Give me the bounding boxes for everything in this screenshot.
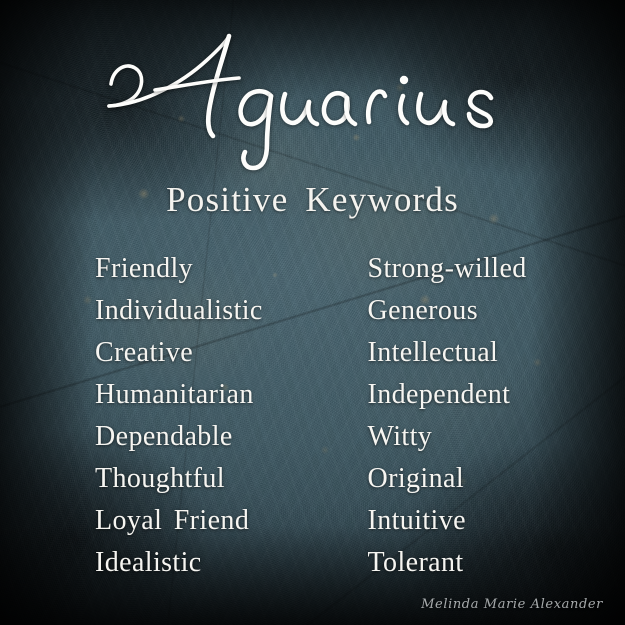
keyword-item: Generous	[368, 290, 625, 332]
keyword-item: Humanitarian	[95, 374, 313, 416]
keyword-item: Intuitive	[368, 500, 625, 542]
artist-signature: Melinda Marie Alexander	[421, 591, 603, 617]
keyword-item: Witty	[368, 416, 625, 458]
keyword-columns: Friendly Individualistic Creative Humani…	[0, 248, 625, 584]
keyword-item: Strong-willed	[368, 248, 625, 290]
keyword-item: Loyal Friend	[95, 500, 313, 542]
artist-signature-text: Melinda Marie Alexander	[421, 597, 603, 612]
poster-subtitle: Positive Keywords	[0, 178, 625, 222]
keyword-item: Friendly	[95, 248, 313, 290]
keyword-item: Tolerant	[368, 542, 625, 584]
keyword-item: Original	[368, 458, 625, 500]
poster-title: Aquarius	[0, 18, 625, 168]
keyword-item: Independent	[368, 374, 625, 416]
keyword-item: Thoughtful	[95, 458, 313, 500]
keyword-item: Individualistic	[95, 290, 313, 332]
aquarius-keywords-poster: Aquarius	[0, 0, 625, 625]
keyword-column-right: Strong-willed Generous Intellectual Inde…	[313, 248, 625, 584]
poster-content: Aquarius	[0, 0, 625, 625]
keyword-item: Idealistic	[95, 542, 313, 584]
keyword-column-left: Friendly Individualistic Creative Humani…	[0, 248, 313, 584]
keyword-item: Creative	[95, 332, 313, 374]
keyword-item: Intellectual	[368, 332, 625, 374]
keyword-item: Dependable	[95, 416, 313, 458]
aquarius-script-wordmark: Aquarius	[103, 18, 523, 168]
